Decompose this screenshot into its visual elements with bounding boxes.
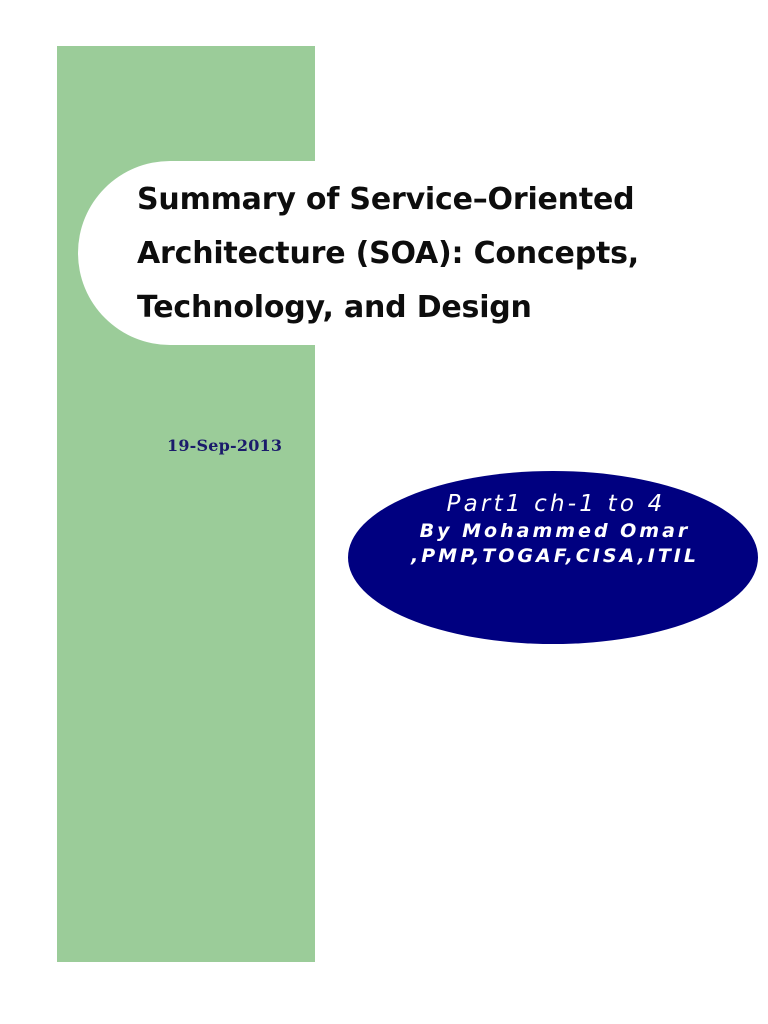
- author-badge-author-name: By Mohammed Omar: [348, 519, 758, 544]
- title-plate: Summary of Service–Oriented Architecture…: [78, 161, 698, 345]
- cover-page: Summary of Service–Oriented Architecture…: [0, 0, 768, 1024]
- document-date: 19-Sep-2013: [167, 436, 282, 455]
- page-title-line-2: Architecture (SOA): Concepts,: [137, 227, 697, 281]
- author-badge-text: Part1 ch-1 to 4 By Mohammed Omar ,PMP,TO…: [348, 489, 758, 569]
- page-title-line-1: Summary of Service–Oriented: [137, 173, 697, 227]
- page-title-line-3: Technology, and Design: [137, 281, 697, 335]
- page-title: Summary of Service–Oriented Architecture…: [137, 173, 697, 335]
- author-badge-part-label: Part1 ch-1 to 4: [348, 489, 758, 519]
- author-badge: Part1 ch-1 to 4 By Mohammed Omar ,PMP,TO…: [348, 471, 758, 644]
- author-badge-credentials: ,PMP,TOGAF,CISA,ITIL: [348, 544, 758, 569]
